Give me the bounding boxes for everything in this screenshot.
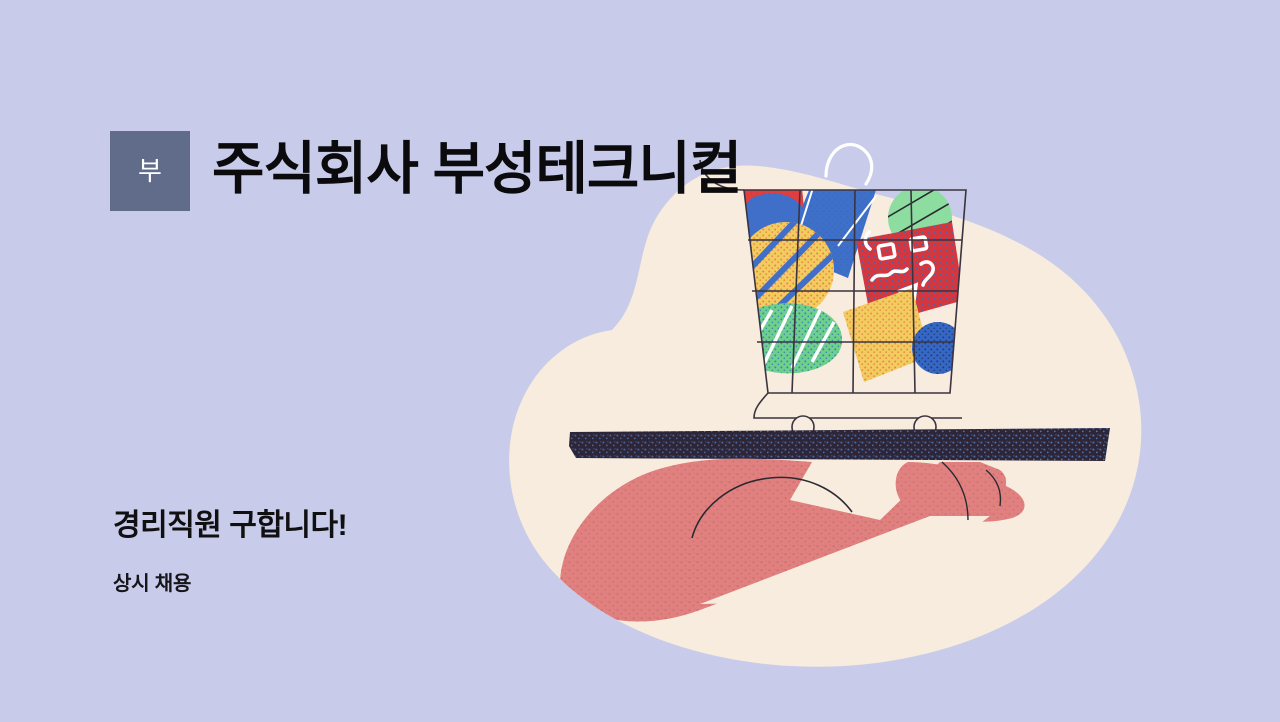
green-striped-circle <box>886 184 954 254</box>
green-blue-blob <box>734 303 843 373</box>
company-logo-initial: 부 <box>138 158 162 184</box>
dark-tray-bar <box>569 428 1110 461</box>
job-headline: 경리직원 구합니다! <box>113 508 347 544</box>
cart-contents <box>730 168 964 382</box>
red-blue-doodle-tag <box>856 222 964 326</box>
red-speckled-shape <box>735 168 806 246</box>
blue-speckled-circle <box>912 322 964 374</box>
hand-holding-shopping-cart-illustration <box>0 0 1280 722</box>
recruitment-type-label: 상시 채용 <box>113 572 191 596</box>
hand-illustration <box>560 459 1025 622</box>
orange-yellow-square <box>843 288 930 382</box>
blue-blob <box>740 194 808 259</box>
poster-header: 부 주식회사 부성테크니컬 <box>110 131 741 211</box>
job-posting-poster: 부 주식회사 부성테크니컬 경리직원 구합니다! 상시 채용 <box>0 0 1280 722</box>
cart-wheels <box>792 416 936 438</box>
company-logo-badge: 부 <box>110 131 190 211</box>
company-name-title: 주식회사 부성테크니컬 <box>212 141 741 198</box>
blue-speckled-square <box>784 168 876 278</box>
cart-handle-icon <box>826 144 872 184</box>
yellow-striped-circle <box>730 216 838 332</box>
beige-background-blob <box>509 165 1141 666</box>
